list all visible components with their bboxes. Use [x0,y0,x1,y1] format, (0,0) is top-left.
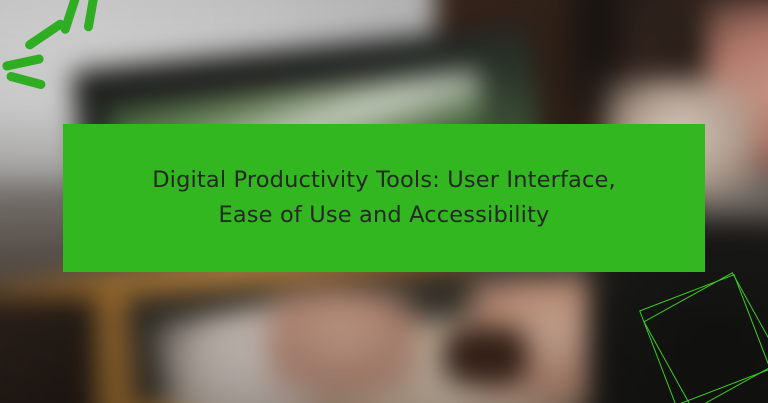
page-title: Digital Productivity Tools: User Interfa… [129,163,639,233]
title-banner: Digital Productivity Tools: User Interfa… [63,124,705,272]
featured-image-canvas: Digital Productivity Tools: User Interfa… [0,0,768,403]
